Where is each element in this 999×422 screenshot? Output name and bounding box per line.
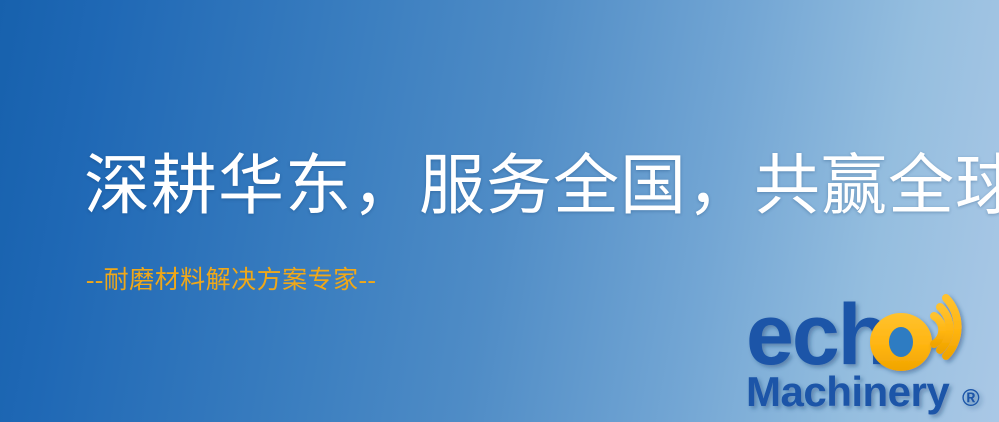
company-logo[interactable]: ech Machinery ®: [744, 296, 996, 418]
registered-trademark-icon: ®: [962, 385, 980, 412]
logo-graphic: ech Machinery ®: [744, 296, 996, 418]
logo-o-ring-icon: [870, 313, 932, 371]
echo-waves-icon: [934, 298, 958, 356]
logo-machinery-glyphs: Machinery: [746, 368, 950, 415]
page-title: 深耕华东，服务全国，共赢全球: [84, 150, 999, 224]
hero-banner: 深耕华东，服务全国，共赢全球 --耐磨材料解决方案专家--: [0, 0, 999, 422]
logo-text-machinery: Machinery ®: [746, 368, 980, 415]
banner-subtitle: --耐磨材料解决方案专家--: [86, 266, 376, 296]
